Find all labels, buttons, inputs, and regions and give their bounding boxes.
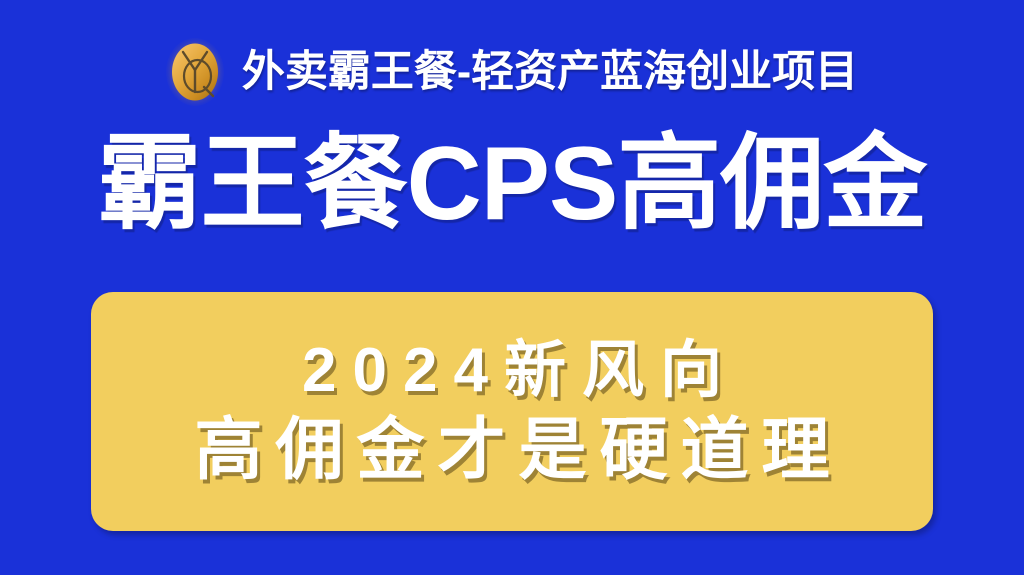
header-title: 外卖霸王餐-轻资产蓝海创业项目: [242, 51, 858, 94]
header: 外卖霸王餐-轻资产蓝海创业项目: [0, 36, 1024, 108]
poster-canvas: 外卖霸王餐-轻资产蓝海创业项目 霸王餐CPS高佣金 2024新风向 高佣金才是硬…: [0, 0, 1024, 575]
oval-monogram-yq-logo-icon: [166, 38, 224, 106]
promo-line-secondary: 高佣金才是硬道理: [181, 416, 842, 484]
page-title: 霸王餐CPS高佣金: [0, 125, 1024, 243]
promo-line-primary: 2024新风向: [286, 340, 738, 402]
promo-card: 2024新风向 高佣金才是硬道理: [91, 292, 933, 531]
